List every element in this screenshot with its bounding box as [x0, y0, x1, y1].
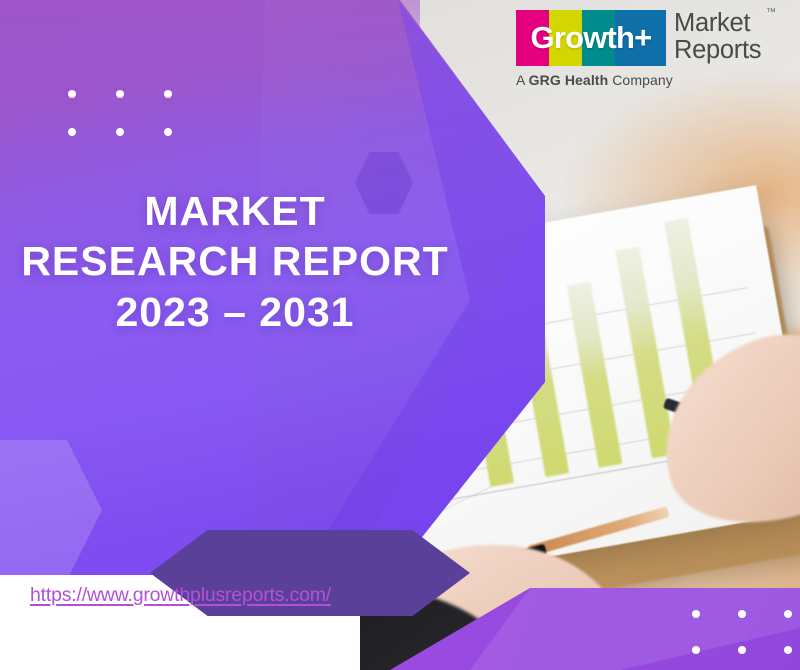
dot	[164, 128, 172, 136]
dot	[738, 610, 746, 618]
logo-brand-line-1: Market	[674, 10, 761, 37]
logo-color-mark: Growth+	[516, 10, 666, 66]
company-logo: Growth+ Market Reports ™ A GRG Health Co…	[516, 10, 790, 88]
photo-chart-bar	[615, 246, 675, 458]
photo-chart-bar	[566, 281, 622, 467]
dot	[116, 128, 124, 136]
report-cover: MARKET RESEARCH REPORT 2023 – 2031 https…	[0, 0, 800, 670]
cover-title-line-3: 2023 – 2031	[0, 287, 470, 337]
dot	[116, 90, 124, 98]
dot	[692, 646, 700, 654]
trademark-symbol: ™	[766, 8, 776, 19]
dot	[784, 646, 792, 654]
dot-grid-bottom-right	[692, 610, 792, 654]
website-url-link[interactable]: https://www.growthplusreports.com/	[30, 584, 331, 607]
logo-primary-row: Growth+ Market Reports ™	[516, 10, 790, 66]
cover-title-line-1: MARKET	[0, 186, 470, 236]
dot	[784, 610, 792, 618]
cover-title-line-2: RESEARCH REPORT	[0, 236, 470, 286]
logo-wordmark: Growth+	[516, 10, 666, 66]
dot	[68, 90, 76, 98]
dot	[164, 90, 172, 98]
tagline-bold: GRG Health	[529, 72, 609, 88]
logo-tagline: A GRG Health Company	[516, 72, 790, 88]
tagline-suffix: Company	[608, 72, 673, 88]
dot	[692, 610, 700, 618]
logo-brand-line-2: Reports	[674, 37, 761, 64]
tagline-prefix: A	[516, 72, 529, 88]
dot	[68, 128, 76, 136]
logo-brand-text: Market Reports ™	[674, 10, 761, 65]
dot	[738, 646, 746, 654]
cover-title: MARKET RESEARCH REPORT 2023 – 2031	[0, 186, 470, 337]
dot-grid-top-left	[68, 90, 172, 136]
